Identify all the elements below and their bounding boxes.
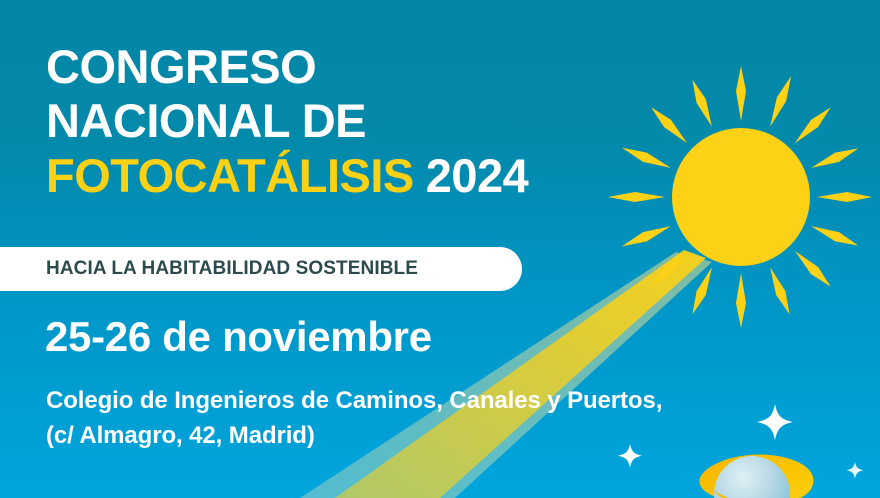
event-venue: Colegio de Ingenieros de Caminos, Canale… <box>46 383 686 453</box>
venue-line-1: Colegio de Ingenieros de Caminos, Canale… <box>46 383 686 418</box>
subtitle-banner: HACIA LA HABITABILIDAD SOSTENIBLE <box>0 247 522 291</box>
title-highlight: FOTOCATÁLISIS <box>46 149 414 202</box>
title-line-2: NACIONAL DE <box>46 94 666 148</box>
sparkle-star-tiny <box>847 462 864 479</box>
title-line-3: FOTOCATÁLISIS2024 <box>46 148 666 204</box>
title-year: 2024 <box>426 149 529 202</box>
venue-line-2: (c/ Almagro, 42, Madrid) <box>46 418 686 453</box>
title-line-1: CONGRESO <box>46 40 666 94</box>
poster-canvas: CONGRESO NACIONAL DE FOTOCATÁLISIS2024 H… <box>0 0 880 498</box>
sparkle-star-large <box>757 404 793 440</box>
saturn-planet-icon <box>699 455 813 498</box>
subtitle-text: HACIA LA HABITABILIDAD SOSTENIBLE <box>46 258 418 280</box>
page-title: CONGRESO NACIONAL DE FOTOCATÁLISIS2024 <box>46 40 666 204</box>
event-date: 25-26 de noviembre <box>45 313 432 361</box>
